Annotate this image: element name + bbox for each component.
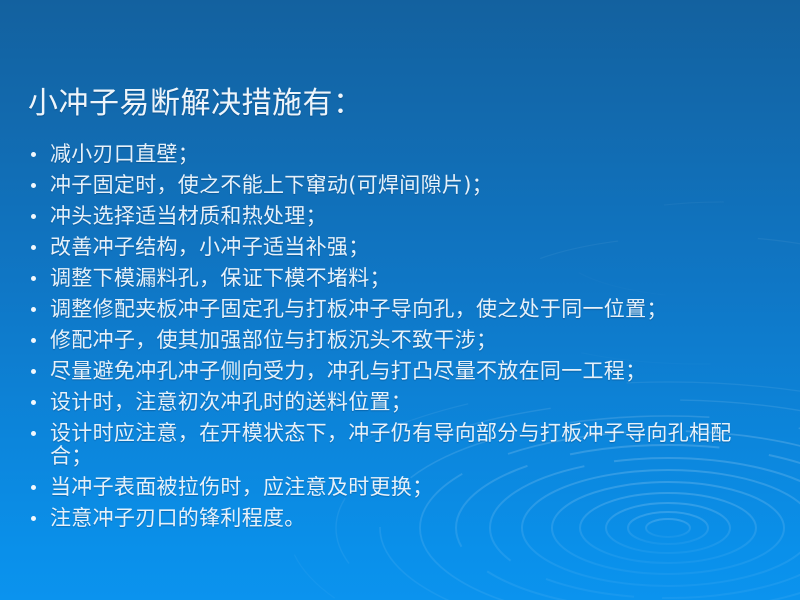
bullet-dot-icon <box>31 516 36 521</box>
list-item-text: 减小刃口直壁； <box>50 143 776 166</box>
list-item: 注意冲子刃口的锋利程度。 <box>26 507 776 530</box>
list-item-text: 注意冲子刃口的锋利程度。 <box>50 507 776 530</box>
bullet-dot-icon <box>31 152 36 157</box>
list-item: 尽量避免冲孔冲子侧向受力，冲孔与打凸尽量不放在同一工程； <box>26 360 776 383</box>
bullet-list: 减小刃口直壁； 冲子固定时，使之不能上下窜动(可焊间隙片)； 冲头选择适当材质和… <box>26 143 776 538</box>
list-item: 设计时，注意初次冲孔时的送料位置； <box>26 391 776 414</box>
bullet-dot-icon <box>31 369 36 374</box>
list-item: 当冲子表面被拉伤时，应注意及时更换； <box>26 476 776 499</box>
list-item-text: 当冲子表面被拉伤时，应注意及时更换； <box>50 476 776 499</box>
list-item: 调整下模漏料孔，保证下模不堵料； <box>26 267 776 290</box>
list-item: 冲头选择适当材质和热处理； <box>26 205 776 228</box>
list-item-text: 尽量避免冲孔冲子侧向受力，冲孔与打凸尽量不放在同一工程； <box>50 360 776 383</box>
list-item: 修配冲子，使其加强部位与打板沉头不致干涉； <box>26 329 776 352</box>
bullet-dot-icon <box>31 431 36 436</box>
bullet-dot-icon <box>31 183 36 188</box>
list-item-text: 调整修配夹板冲子固定孔与打板冲子导向孔，使之处于同一位置； <box>50 298 776 321</box>
list-item-text: 设计时应注意，在开模状态下，冲子仍有导向部分与打板冲子导向孔相配合； <box>50 422 765 468</box>
list-item: 改善冲子结构，小冲子适当补强； <box>26 236 776 259</box>
bullet-dot-icon <box>31 214 36 219</box>
presentation-slide: 小冲子易断解决措施有： 减小刃口直壁； 冲子固定时，使之不能上下窜动(可焊间隙片… <box>0 0 800 600</box>
bullet-dot-icon <box>31 400 36 405</box>
bullet-dot-icon <box>31 245 36 250</box>
slide-content: 小冲子易断解决措施有： 减小刃口直壁； 冲子固定时，使之不能上下窜动(可焊间隙片… <box>0 0 800 600</box>
slide-title: 小冲子易断解决措施有： <box>28 85 364 123</box>
list-item: 冲子固定时，使之不能上下窜动(可焊间隙片)； <box>26 174 776 197</box>
list-item-text: 冲子固定时，使之不能上下窜动(可焊间隙片)； <box>50 174 776 197</box>
list-item: 设计时应注意，在开模状态下，冲子仍有导向部分与打板冲子导向孔相配合； <box>26 422 776 468</box>
list-item-text: 改善冲子结构，小冲子适当补强； <box>50 236 776 259</box>
list-item: 减小刃口直壁； <box>26 143 776 166</box>
list-item-text: 调整下模漏料孔，保证下模不堵料； <box>50 267 776 290</box>
bullet-dot-icon <box>31 485 36 490</box>
list-item-text: 冲头选择适当材质和热处理； <box>50 205 776 228</box>
bullet-dot-icon <box>31 276 36 281</box>
bullet-dot-icon <box>31 307 36 312</box>
list-item-text: 设计时，注意初次冲孔时的送料位置； <box>50 391 776 414</box>
bullet-dot-icon <box>31 338 36 343</box>
list-item-text: 修配冲子，使其加强部位与打板沉头不致干涉； <box>50 329 776 352</box>
list-item: 调整修配夹板冲子固定孔与打板冲子导向孔，使之处于同一位置； <box>26 298 776 321</box>
